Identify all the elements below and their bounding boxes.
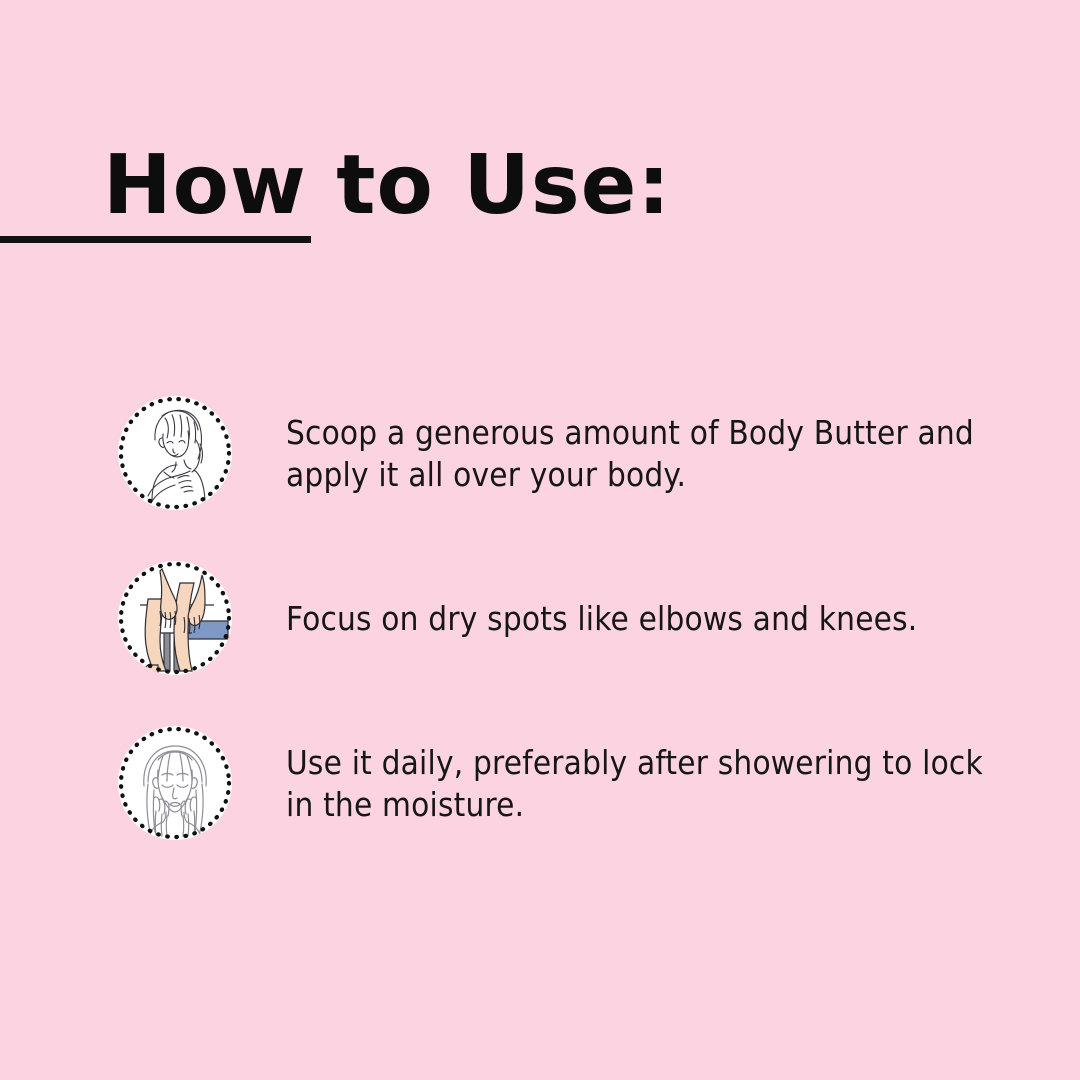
- step-1-icon-circle: [118, 396, 232, 510]
- step-2-icon-circle: [118, 561, 232, 675]
- list-item: Use it daily, preferably after showering…: [0, 710, 1080, 875]
- step-3-text: Use it daily, preferably after showering…: [286, 742, 986, 826]
- woman-applying-lotion-to-arm-icon: [118, 396, 232, 510]
- list-item: Focus on dry spots like elbows and knees…: [0, 545, 1080, 710]
- heading-underline-rule: [0, 236, 311, 243]
- heading-block: How to Use:: [0, 140, 1080, 250]
- hands-applying-lotion-to-legs-icon: [118, 561, 232, 675]
- woman-face-hands-on-cheeks-icon: [118, 726, 232, 840]
- steps-list: Scoop a generous amount of Body Butter a…: [0, 380, 1080, 875]
- how-to-use-infographic: How to Use:: [0, 0, 1080, 1080]
- list-item: Scoop a generous amount of Body Butter a…: [0, 380, 1080, 545]
- step-2-text: Focus on dry spots like elbows and knees…: [286, 598, 986, 640]
- step-1-text: Scoop a generous amount of Body Butter a…: [286, 412, 986, 496]
- page-title: How to Use:: [103, 140, 671, 232]
- step-3-icon-circle: [118, 726, 232, 840]
